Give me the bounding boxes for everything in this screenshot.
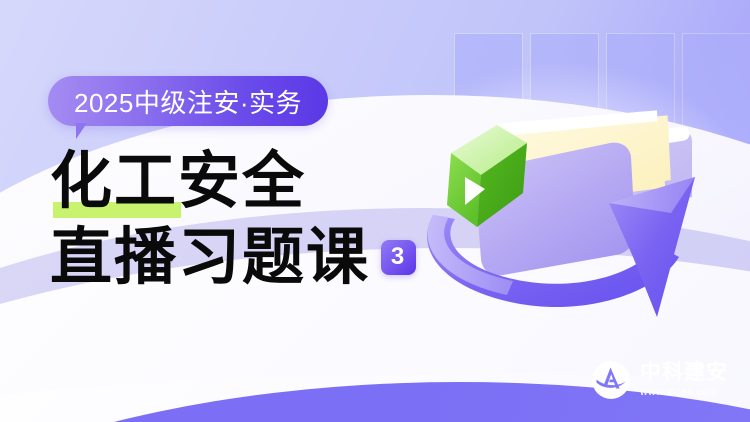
folder-illustration (395, 85, 750, 360)
headline-line-2: 直播习题课 3 (50, 224, 416, 290)
headline-line-2-text: 直播习题课 (50, 224, 370, 290)
headline-line-1: 化工安全 (50, 148, 416, 214)
episode-number-badge: 3 (381, 240, 416, 275)
headline-block: 化工安全 直播习题课 3 (50, 148, 416, 290)
course-tag-tail (76, 123, 87, 139)
zkjan-circle-icon (591, 360, 631, 400)
brand-logo: 中科建安 www.zkjan.com (591, 360, 728, 400)
course-tag-label: 2025中级注安·实务 (48, 76, 328, 126)
brand-url: www.zkjan.com (640, 386, 728, 399)
course-tag: 2025中级注安·实务 (48, 76, 328, 126)
course-banner: 2025中级注安·实务 化工安全 直播习题课 3 中科建安 www.zkjan.… (0, 0, 750, 422)
brand-name: 中科建安 (640, 361, 728, 384)
headline-line-1-text: 化工安全 (50, 144, 306, 217)
brand-text: 中科建安 www.zkjan.com (640, 361, 728, 399)
